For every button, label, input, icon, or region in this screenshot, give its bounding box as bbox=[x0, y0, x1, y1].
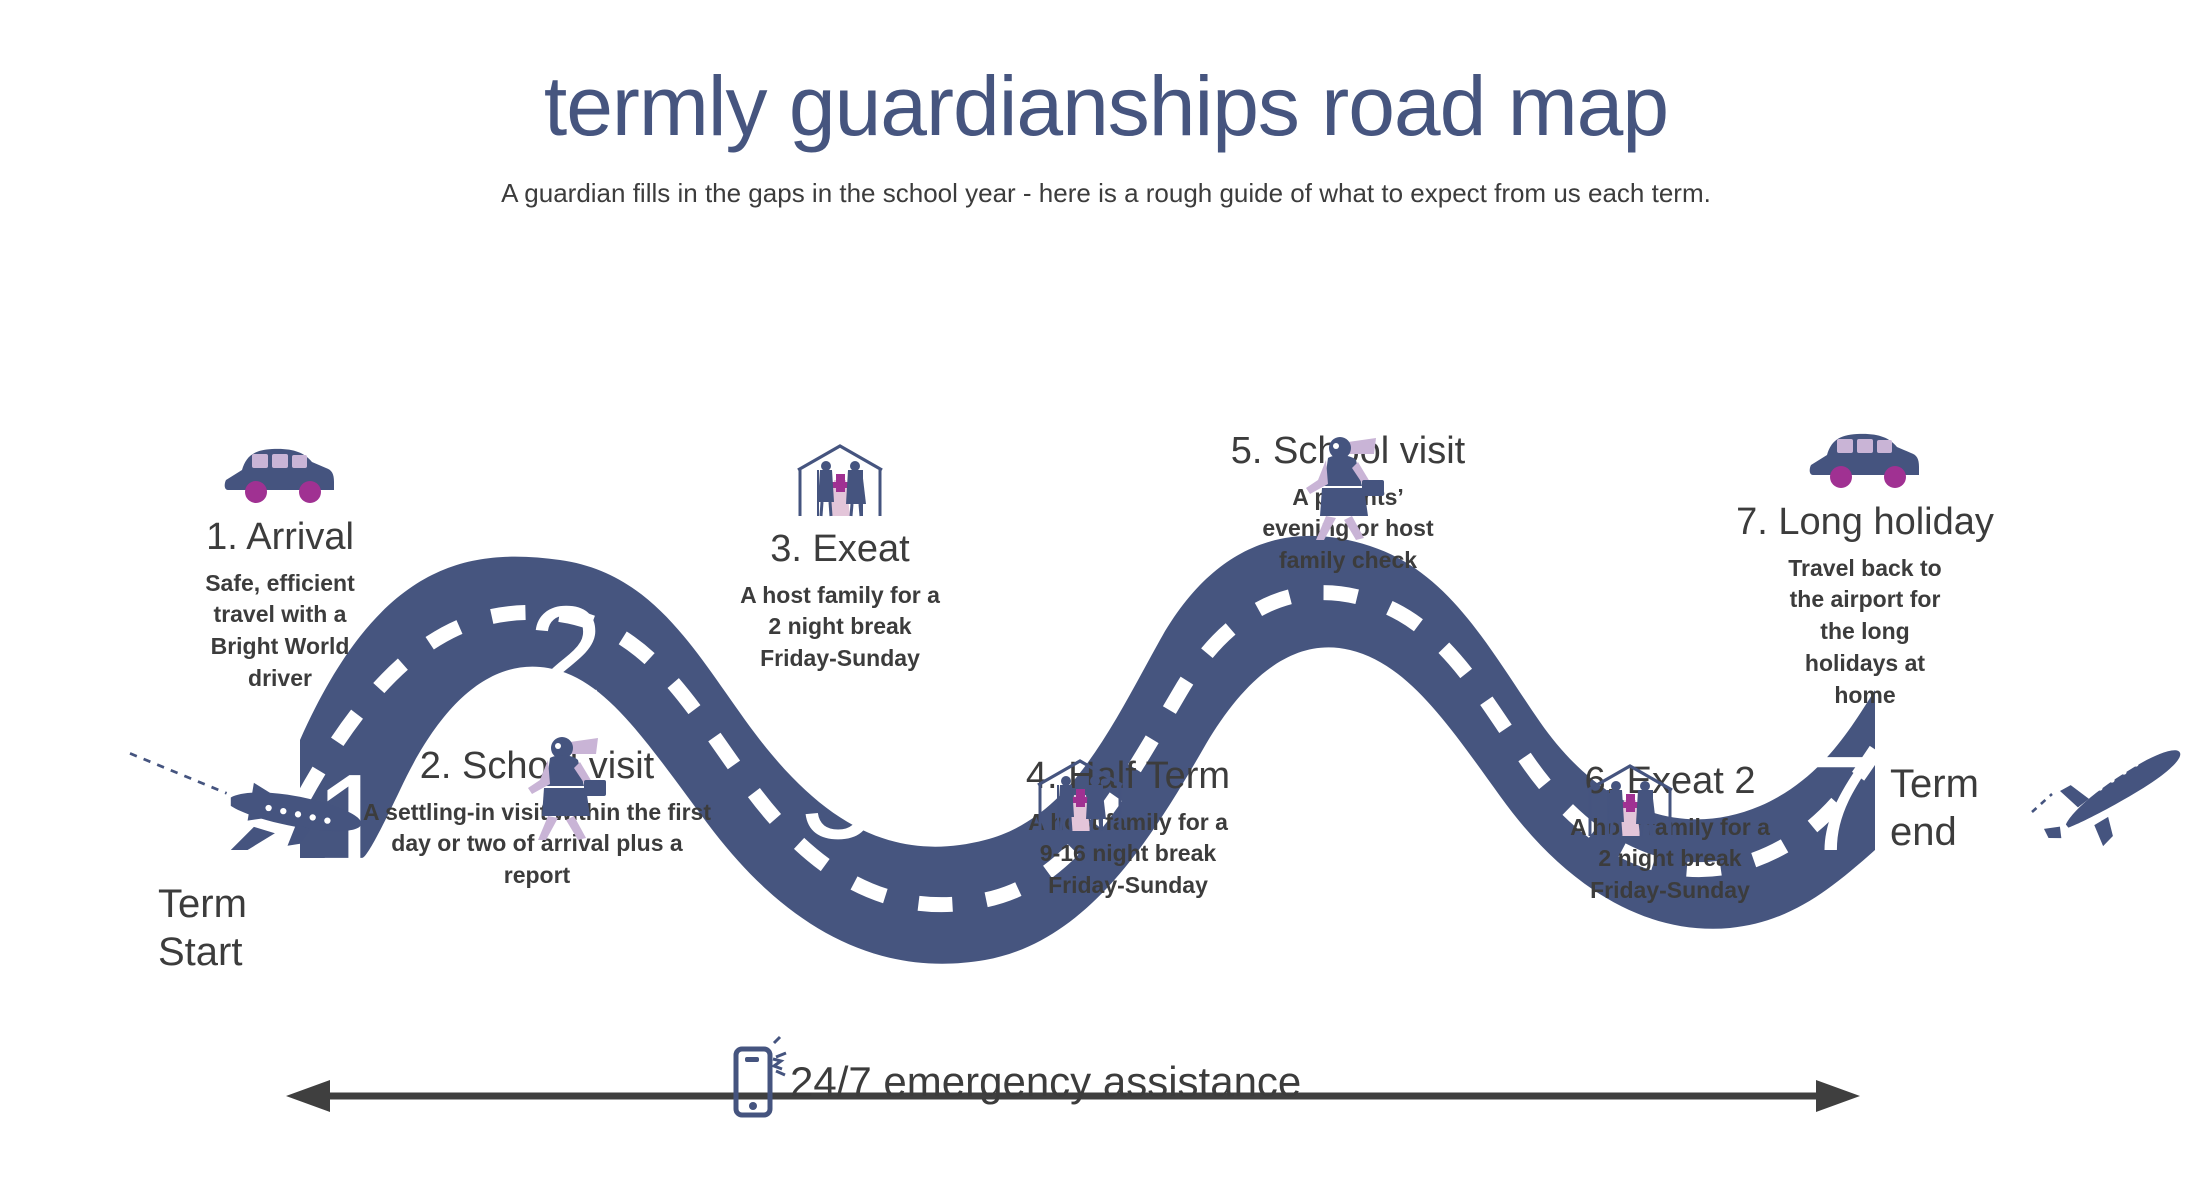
milestone-3-title: 3. Exeat bbox=[700, 528, 980, 572]
term-start-label: Term Start bbox=[158, 880, 308, 976]
road-number-4: 4 bbox=[1060, 578, 1135, 729]
airplane-landing-icon bbox=[130, 753, 361, 850]
walking-woman-briefcase-icon-5 bbox=[1290, 430, 1394, 540]
page-subtitle: A guardian fills in the gaps in the scho… bbox=[0, 150, 2212, 209]
walking-woman-briefcase-icon-2 bbox=[512, 730, 616, 840]
road-number-5: 5 bbox=[1322, 716, 1397, 867]
milestone-1-arrival: 1. Arrival Safe, efficient travel with a… bbox=[140, 440, 420, 695]
page-title: termly guardianships road map bbox=[0, 0, 2212, 150]
term-end-label: Term end bbox=[1890, 760, 2050, 856]
term-start-line-2: Start bbox=[158, 928, 308, 976]
taxi-car-icon bbox=[220, 440, 340, 510]
milestone-1-title: 1. Arrival bbox=[140, 516, 420, 560]
milestone-7-long-holiday: 7. Long holiday Travel back to the airpo… bbox=[1700, 425, 2030, 711]
host-family-house-icon-6 bbox=[1578, 760, 1682, 842]
header: termly guardianships road map A guardian… bbox=[0, 0, 2212, 209]
road-number-3: 3 bbox=[800, 716, 875, 867]
emergency-assistance-label: 24/7 emergency assistance bbox=[790, 1058, 1301, 1106]
airplane-takeoff-icon bbox=[2030, 718, 2196, 869]
milestone-1-desc: Safe, efficient travel with a Bright Wor… bbox=[198, 568, 363, 695]
milestone-7-desc: Travel back to the airport for the long … bbox=[1788, 553, 1943, 712]
road-number-6: 6 bbox=[1580, 568, 1655, 719]
milestone-3-exeat: 3. Exeat A host family for a 2 night bre… bbox=[700, 440, 980, 675]
milestone-7-title: 7. Long holiday bbox=[1700, 501, 2030, 545]
milestone-3-desc: A host family for a 2 night break Friday… bbox=[740, 580, 940, 675]
host-family-house-icon-4 bbox=[1028, 755, 1132, 837]
term-end-line-1: Term bbox=[1890, 760, 2050, 808]
ringing-mobile-phone-icon bbox=[718, 1035, 798, 1123]
taxi-car-icon bbox=[1805, 425, 1925, 495]
term-end-line-2: end bbox=[1890, 808, 2050, 856]
term-start-line-1: Term bbox=[158, 880, 308, 928]
phone-icon-container bbox=[718, 1035, 798, 1128]
host-family-house-icon bbox=[788, 440, 892, 522]
road-number-2: 2 bbox=[528, 578, 603, 729]
